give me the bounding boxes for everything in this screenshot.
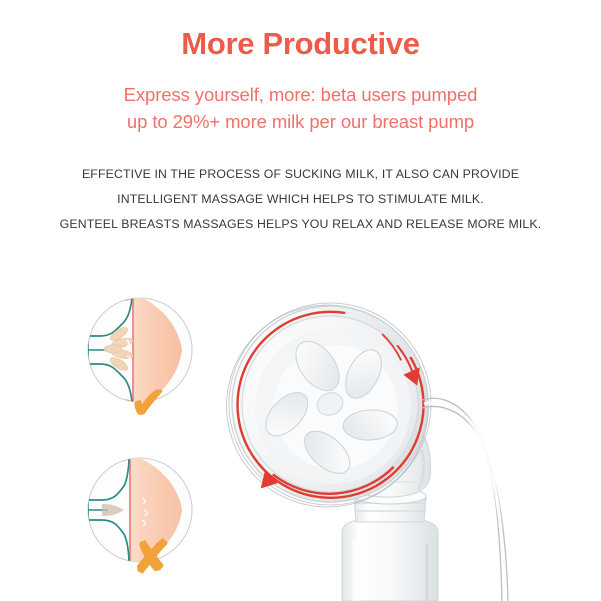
milk-bottle xyxy=(342,520,438,601)
subtitle-line-1: Express yourself, more: beta users pumpe… xyxy=(0,82,601,109)
diagram-incorrect xyxy=(86,456,194,564)
subtitle-line-2: up to 29%+ more milk per our breast pump xyxy=(0,109,601,136)
product-image xyxy=(226,300,601,601)
diagram-correct xyxy=(86,296,194,404)
diagram-incorrect-illustration xyxy=(86,456,194,564)
diagram-correct-illustration xyxy=(86,296,194,404)
body-copy: EFFECTIVE IN THE PROCESS OF SUCKING MILK… xyxy=(0,162,601,238)
subtitle: Express yourself, more: beta users pumpe… xyxy=(0,82,601,136)
breast-pump-illustration xyxy=(226,300,601,601)
comparison-diagrams: ✔ xyxy=(86,296,206,586)
body-line-1: EFFECTIVE IN THE PROCESS OF SUCKING MILK… xyxy=(0,162,601,187)
body-line-3: GENTEEL BREASTS MASSAGES HELPS YOU RELAX… xyxy=(0,212,601,237)
marketing-page: More Productive Express yourself, more: … xyxy=(0,0,601,601)
body-line-2: INTELLIGENT MASSAGE WHICH HELPS TO STIMU… xyxy=(0,187,601,212)
page-title: More Productive xyxy=(0,27,601,61)
